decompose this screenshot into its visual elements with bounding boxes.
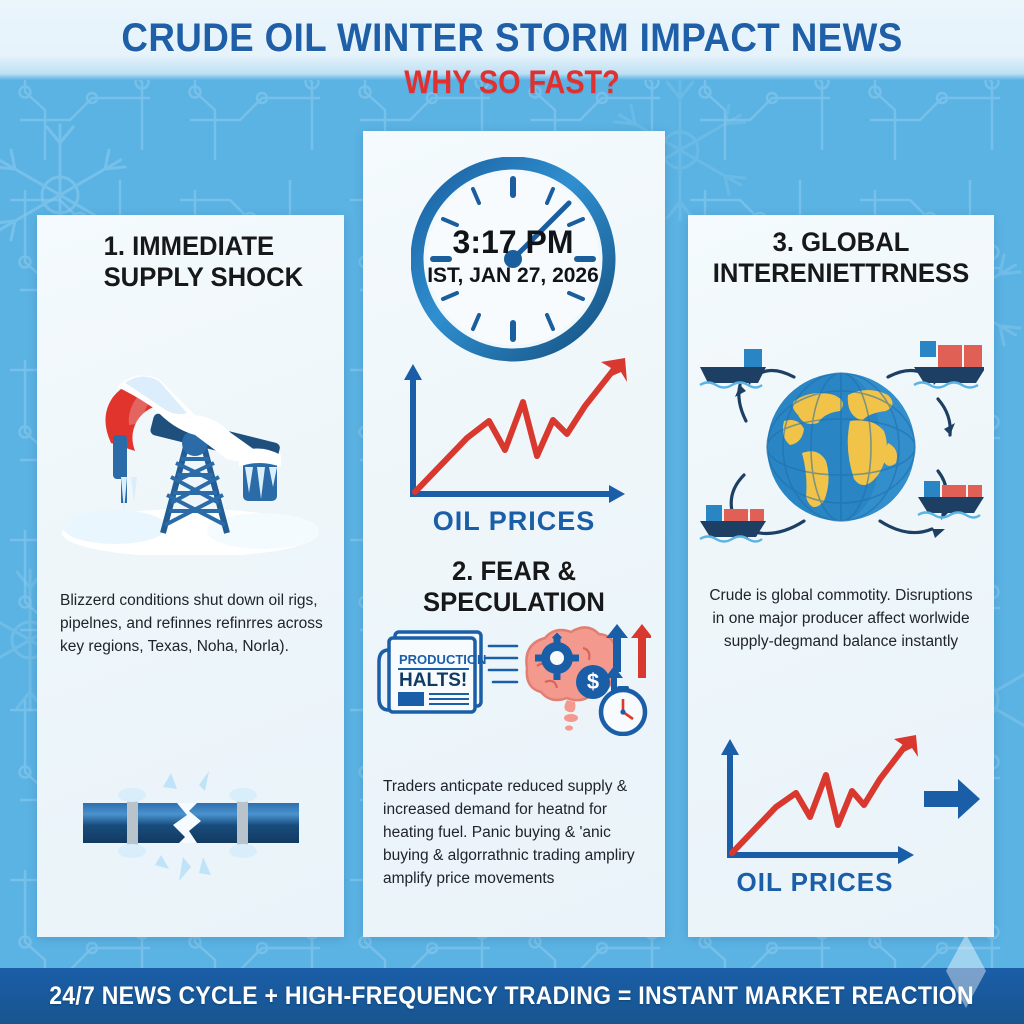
panel-right-heading: 3. GLOBAL INTERENIETTRNESS — [701, 227, 980, 289]
chart-oil-prices-center: OIL PRICES — [381, 346, 647, 536]
panel-left-body: Blizzerd conditions shut down oil rigs, … — [60, 590, 328, 659]
cargo-ship-icon-bottom-right — [918, 481, 984, 518]
panel-global-interconnectedness: 3. GLOBAL INTERENIETTRNESS — [688, 215, 994, 937]
panel-left-heading: 1. IMMEDIATE SUPPLY SHOCK — [54, 231, 327, 293]
bottom-banner: 24/7 NEWS CYCLE + HIGH-FREQUENCY TRADING… — [0, 968, 1024, 1024]
cargo-ship-icon-top-right — [914, 341, 984, 388]
page-title: CRUDE OIL WINTER STORM IMPACT NEWS — [41, 16, 983, 61]
panel-left-heading-line1: 1. IMMEDIATE — [104, 231, 327, 262]
snow-covered-oil-pumpjack-icon — [55, 325, 325, 555]
fear-speculation-icon-group: PRODUCTION HALTS! — [377, 616, 651, 736]
clock-icon: 3:17 PM IST, JAN 27, 2026 — [411, 157, 616, 362]
infographic-root: CRUDE OIL WINTER STORM IMPACT NEWS WHY S… — [0, 0, 1024, 1024]
cargo-ship-icon-bottom-left — [700, 505, 766, 542]
globe-with-cargo-ships-icon — [698, 325, 984, 565]
panel-center-body: Traders anticpate reduced supply & incre… — [383, 776, 651, 891]
bottom-banner-text: 24/7 NEWS CYCLE + HIGH-FREQUENCY TRADING… — [50, 982, 975, 1011]
cargo-ship-icon-top-left — [700, 349, 766, 388]
newspaper-icon: PRODUCTION HALTS! — [379, 632, 486, 712]
panel-fear-and-speculation: 3:17 PM IST, JAN 27, 2026 OIL PRICES 2. … — [363, 131, 665, 937]
chart-oil-prices-right: OIL PRICES — [702, 725, 984, 900]
clock-time: 3:17 PM — [453, 224, 574, 260]
panel-left-heading-line2: SUPPLY SHOCK — [104, 262, 327, 293]
stopwatch-icon — [601, 686, 645, 734]
panel-right-heading-line1: 3. GLOBAL — [701, 227, 980, 258]
right-arrow-icon — [924, 779, 980, 819]
clock-date: IST, JAN 27, 2026 — [427, 264, 599, 287]
panel-immediate-supply-shock: 1. IMMEDIATE SUPPLY SHOCK — [37, 215, 344, 937]
cracked-frozen-pipeline-icon — [59, 771, 324, 891]
svg-text:$: $ — [587, 669, 599, 694]
newspaper-headline-line1: PRODUCTION — [399, 652, 486, 667]
page-subtitle: WHY SO FAST? — [51, 64, 973, 101]
panel-right-heading-line2: INTERENIETTRNESS — [701, 258, 980, 289]
speed-lines-icon — [485, 646, 517, 682]
globe-icon — [767, 373, 915, 521]
newspaper-headline-line2: HALTS! — [399, 670, 467, 691]
chart-label-oil-prices-right: OIL PRICES — [737, 867, 894, 897]
chart-label-oil-prices-center: OIL PRICES — [433, 506, 596, 536]
panel-right-body: Crude is global commotity. Disruptions i… — [702, 585, 980, 654]
panel-center-heading: 2. FEAR & SPECULATION — [371, 556, 658, 618]
dollar-icon: $ — [576, 665, 610, 699]
